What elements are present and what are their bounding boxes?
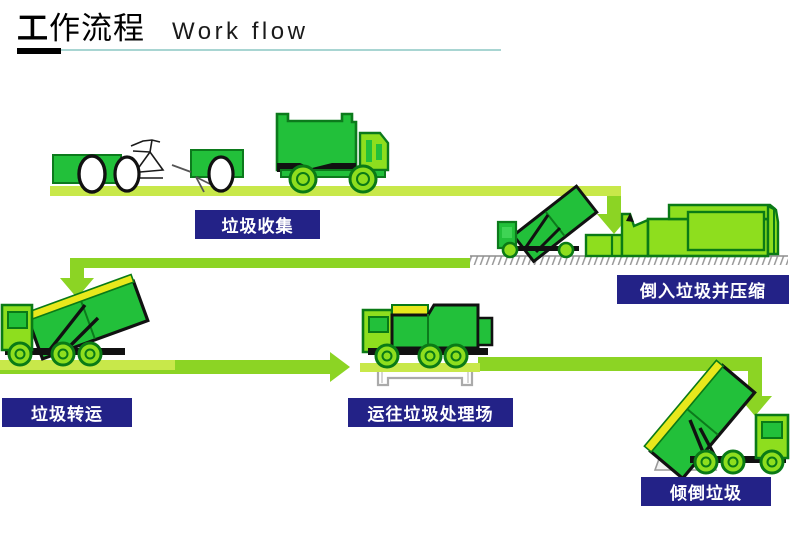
ground-hatch-stage2 <box>470 256 788 265</box>
step-label-waste-collection[interactable]: 垃圾收集 <box>195 210 320 239</box>
green-dump-truck <box>277 114 388 192</box>
cargo-tricycle <box>53 140 163 192</box>
tipping-truck <box>498 186 597 261</box>
step-label-dump-waste[interactable]: 倾倒垃圾 <box>641 477 771 506</box>
transfer-truck-on-weighbridge <box>363 305 492 367</box>
unloading-dump-truck <box>644 360 788 478</box>
step-label-transport-to-plant[interactable]: 运往垃圾处理场 <box>348 398 513 427</box>
step-label-waste-transfer[interactable]: 垃圾转运 <box>2 398 132 427</box>
weighbridge <box>378 372 472 385</box>
step-label-dump-and-compress[interactable]: 倒入垃圾并压缩 <box>617 275 789 304</box>
hand-cart <box>172 150 243 192</box>
